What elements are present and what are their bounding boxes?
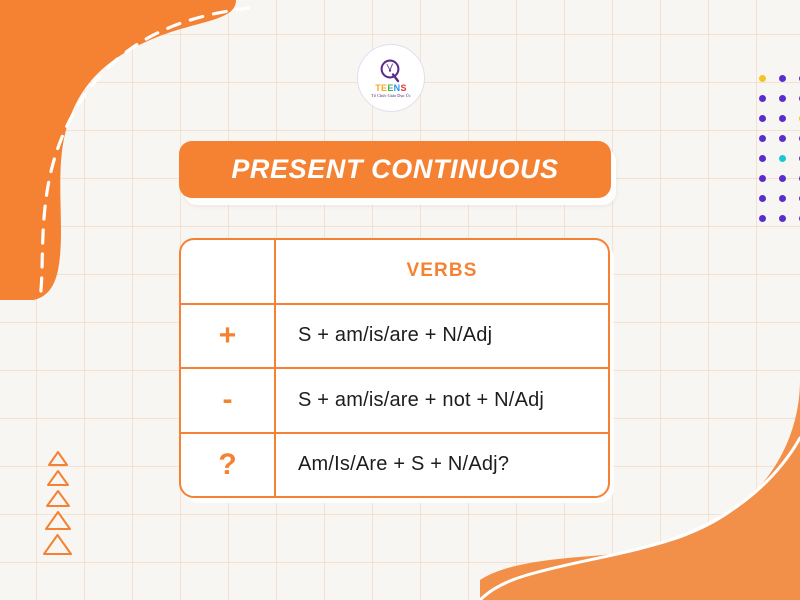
table-row: ? Am/Is/Are + S + N/Adj?: [181, 434, 608, 497]
dot-purple: [779, 95, 786, 102]
table-row: + S + am/is/are + N/Adj: [181, 305, 608, 370]
dot-purple: [759, 155, 766, 162]
triangle-outline-icon: [47, 450, 69, 467]
dot-cyan: [779, 155, 786, 162]
dot-purple: [759, 115, 766, 122]
dot-purple: [759, 195, 766, 202]
slide-canvas: TEENS Tổ Chức Giáo Dục Úc PRESENT CONTIN…: [0, 0, 800, 600]
triangle-outline-icon: [42, 533, 73, 556]
formula-text: S + am/is/are + not + N/Adj: [298, 389, 544, 412]
dot-matrix-decoration: [752, 68, 800, 228]
page-title: PRESENT CONTINUOUS: [231, 154, 558, 185]
column-header-verbs: VERBS: [276, 260, 608, 282]
header-label-cell: VERBS: [276, 240, 608, 303]
dot-purple: [779, 215, 786, 222]
q-letter-logo-icon: [379, 58, 403, 83]
dot-purple: [779, 75, 786, 82]
minus-sign-icon: -: [223, 385, 233, 415]
header-symbol-cell: [181, 240, 276, 303]
dot-purple: [779, 195, 786, 202]
formula-cell-affirmative: S + am/is/are + N/Adj: [276, 305, 608, 368]
triangle-outline-icon: [45, 489, 71, 508]
dot-purple: [759, 175, 766, 182]
formula-cell-interrogative: Am/Is/Are + S + N/Adj?: [276, 434, 608, 497]
triangle-outline-icon: [44, 510, 72, 531]
triangle-outline-icon: [46, 469, 70, 487]
question-mark-icon: ?: [218, 450, 236, 480]
table-header-row: VERBS: [181, 240, 608, 305]
logo-wordmark: TEENS: [375, 84, 407, 93]
symbol-cell-affirmative: +: [181, 305, 276, 368]
dot-yellow: [759, 75, 766, 82]
symbol-cell-negative: -: [181, 369, 276, 432]
formula-cell-negative: S + am/is/are + not + N/Adj: [276, 369, 608, 432]
dot-purple: [779, 175, 786, 182]
dot-purple: [759, 215, 766, 222]
plus-sign-icon: +: [219, 321, 237, 351]
triangle-stack-decoration: [42, 450, 73, 558]
dot-purple: [779, 135, 786, 142]
table-row: - S + am/is/are + not + N/Adj: [181, 369, 608, 434]
brand-logo: TEENS Tổ Chức Giáo Dục Úc: [357, 44, 425, 112]
symbol-cell-interrogative: ?: [181, 434, 276, 497]
title-banner: PRESENT CONTINUOUS: [179, 141, 611, 198]
logo-subtitle: Tổ Chức Giáo Dục Úc: [371, 94, 411, 98]
formula-text: S + am/is/are + N/Adj: [298, 324, 492, 347]
dot-purple: [779, 115, 786, 122]
dot-purple: [759, 95, 766, 102]
dot-purple: [759, 135, 766, 142]
grammar-table: VERBS + S + am/is/are + N/Adj - S + am/i…: [179, 238, 610, 498]
formula-text: Am/Is/Are + S + N/Adj?: [298, 453, 509, 476]
